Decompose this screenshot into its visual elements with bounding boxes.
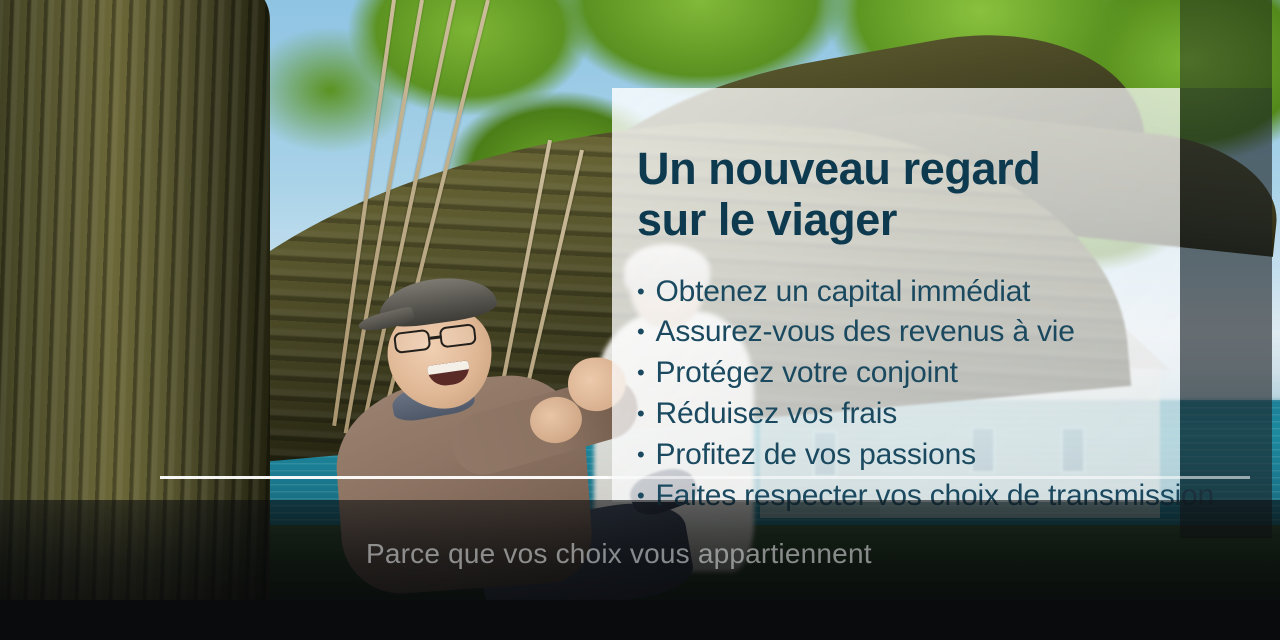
list-item: Assurez-vous des revenus à vie (637, 312, 1180, 353)
page-title: Un nouveau regard sur le viager (637, 143, 1180, 246)
list-item: Réduisez vos frais (637, 394, 1180, 435)
list-item: Protégez votre conjoint (637, 353, 1180, 394)
list-item-label: Profitez de vos passions (656, 438, 976, 471)
horizontal-rule (160, 476, 1250, 479)
bottom-solid-band (0, 600, 1280, 640)
list-item: Profitez de vos passions (637, 435, 1180, 476)
content-panel-inner: Un nouveau regard sur le viager Obtenez … (612, 88, 1180, 502)
content-panel: Un nouveau regard sur le viager Obtenez … (612, 88, 1180, 502)
list-item-label: Obtenez un capital immédiat (656, 275, 1031, 308)
list-item: Obtenez un capital immédiat (637, 272, 1180, 313)
list-item-label: Assurez-vous des revenus à vie (656, 315, 1075, 348)
tagline: Parce que vos choix vous appartiennent (366, 538, 872, 570)
slide-canvas: Un nouveau regard sur le viager Obtenez … (0, 0, 1280, 640)
right-overlay-column (1180, 88, 1272, 538)
list-item-label: Protégez votre conjoint (656, 356, 958, 389)
benefits-list: Obtenez un capital immédiat Assurez-vous… (637, 272, 1180, 517)
list-item-label: Réduisez vos frais (656, 397, 898, 430)
right-overlay-top (1180, 0, 1272, 88)
